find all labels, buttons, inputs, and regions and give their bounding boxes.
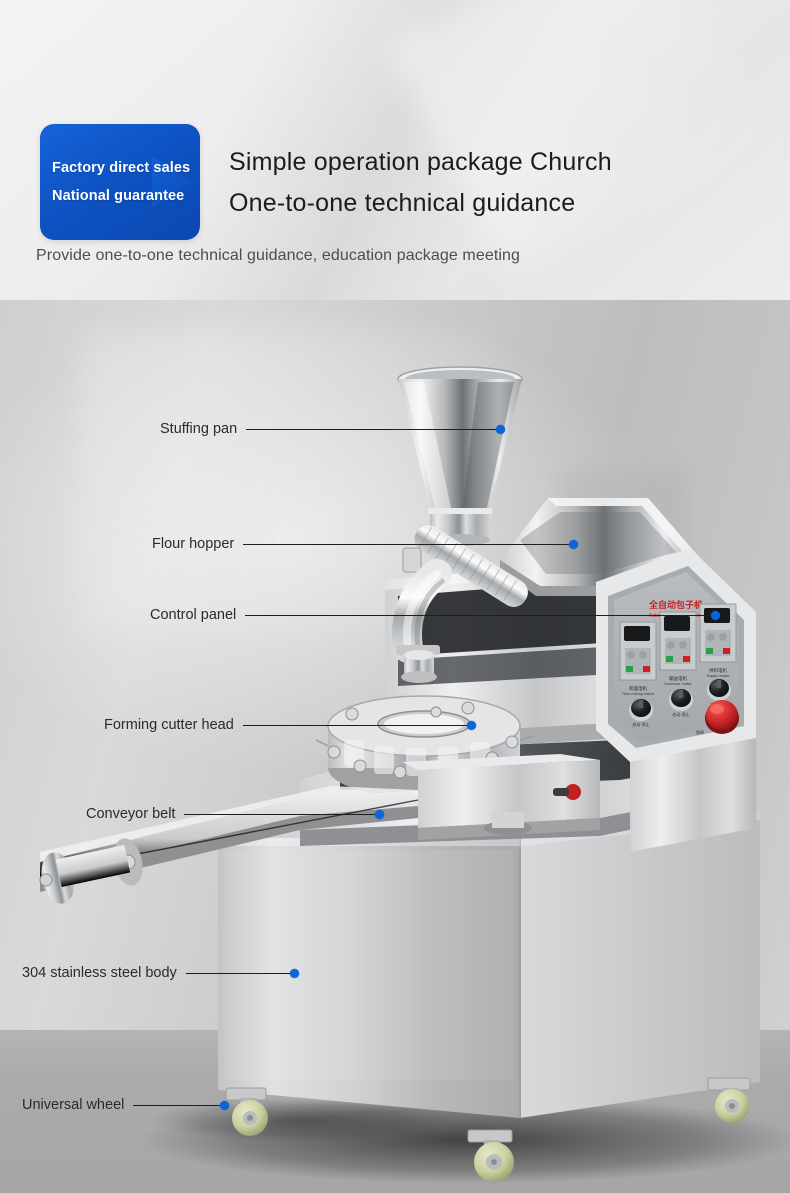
callout-universal-wheel: Universal wheel [22, 1094, 229, 1116]
callout-dot [569, 540, 578, 549]
callout-flour-hopper: Flour hopper [152, 533, 578, 555]
callout-leader-line [243, 544, 570, 545]
callout-label: Forming cutter head [104, 714, 234, 736]
callout-leader-line [184, 814, 376, 815]
callout-label: Universal wheel [22, 1094, 124, 1116]
callout-leader-line [243, 725, 468, 726]
callout-label: 304 stainless steel body [22, 962, 177, 984]
callout-label: Flour hopper [152, 533, 234, 555]
callout-leader-line [133, 1105, 221, 1106]
callout-label: Stuffing pan [160, 418, 237, 440]
callout-control-panel: Control panel [150, 604, 720, 626]
callout-dot [711, 611, 720, 620]
callout-label: Conveyor belt [86, 803, 175, 825]
callout-dot [220, 1101, 229, 1110]
callout-stuffing-pan: Stuffing pan [160, 418, 505, 440]
callout-conveyor-belt: Conveyor belt [86, 803, 384, 825]
callout-leader-line [246, 429, 497, 430]
callout-dot [467, 721, 476, 730]
callout-leader-line [186, 973, 291, 974]
callout-label: Control panel [150, 604, 236, 626]
callout-304-stainless-steel-body: 304 stainless steel body [22, 962, 299, 984]
callout-leader-line [245, 615, 712, 616]
callout-dot [290, 969, 299, 978]
callout-dot [496, 425, 505, 434]
callout-forming-cutter-head: Forming cutter head [104, 714, 476, 736]
feature-callouts: Stuffing panFlour hopperControl panelFor… [0, 0, 790, 1193]
callout-dot [375, 810, 384, 819]
